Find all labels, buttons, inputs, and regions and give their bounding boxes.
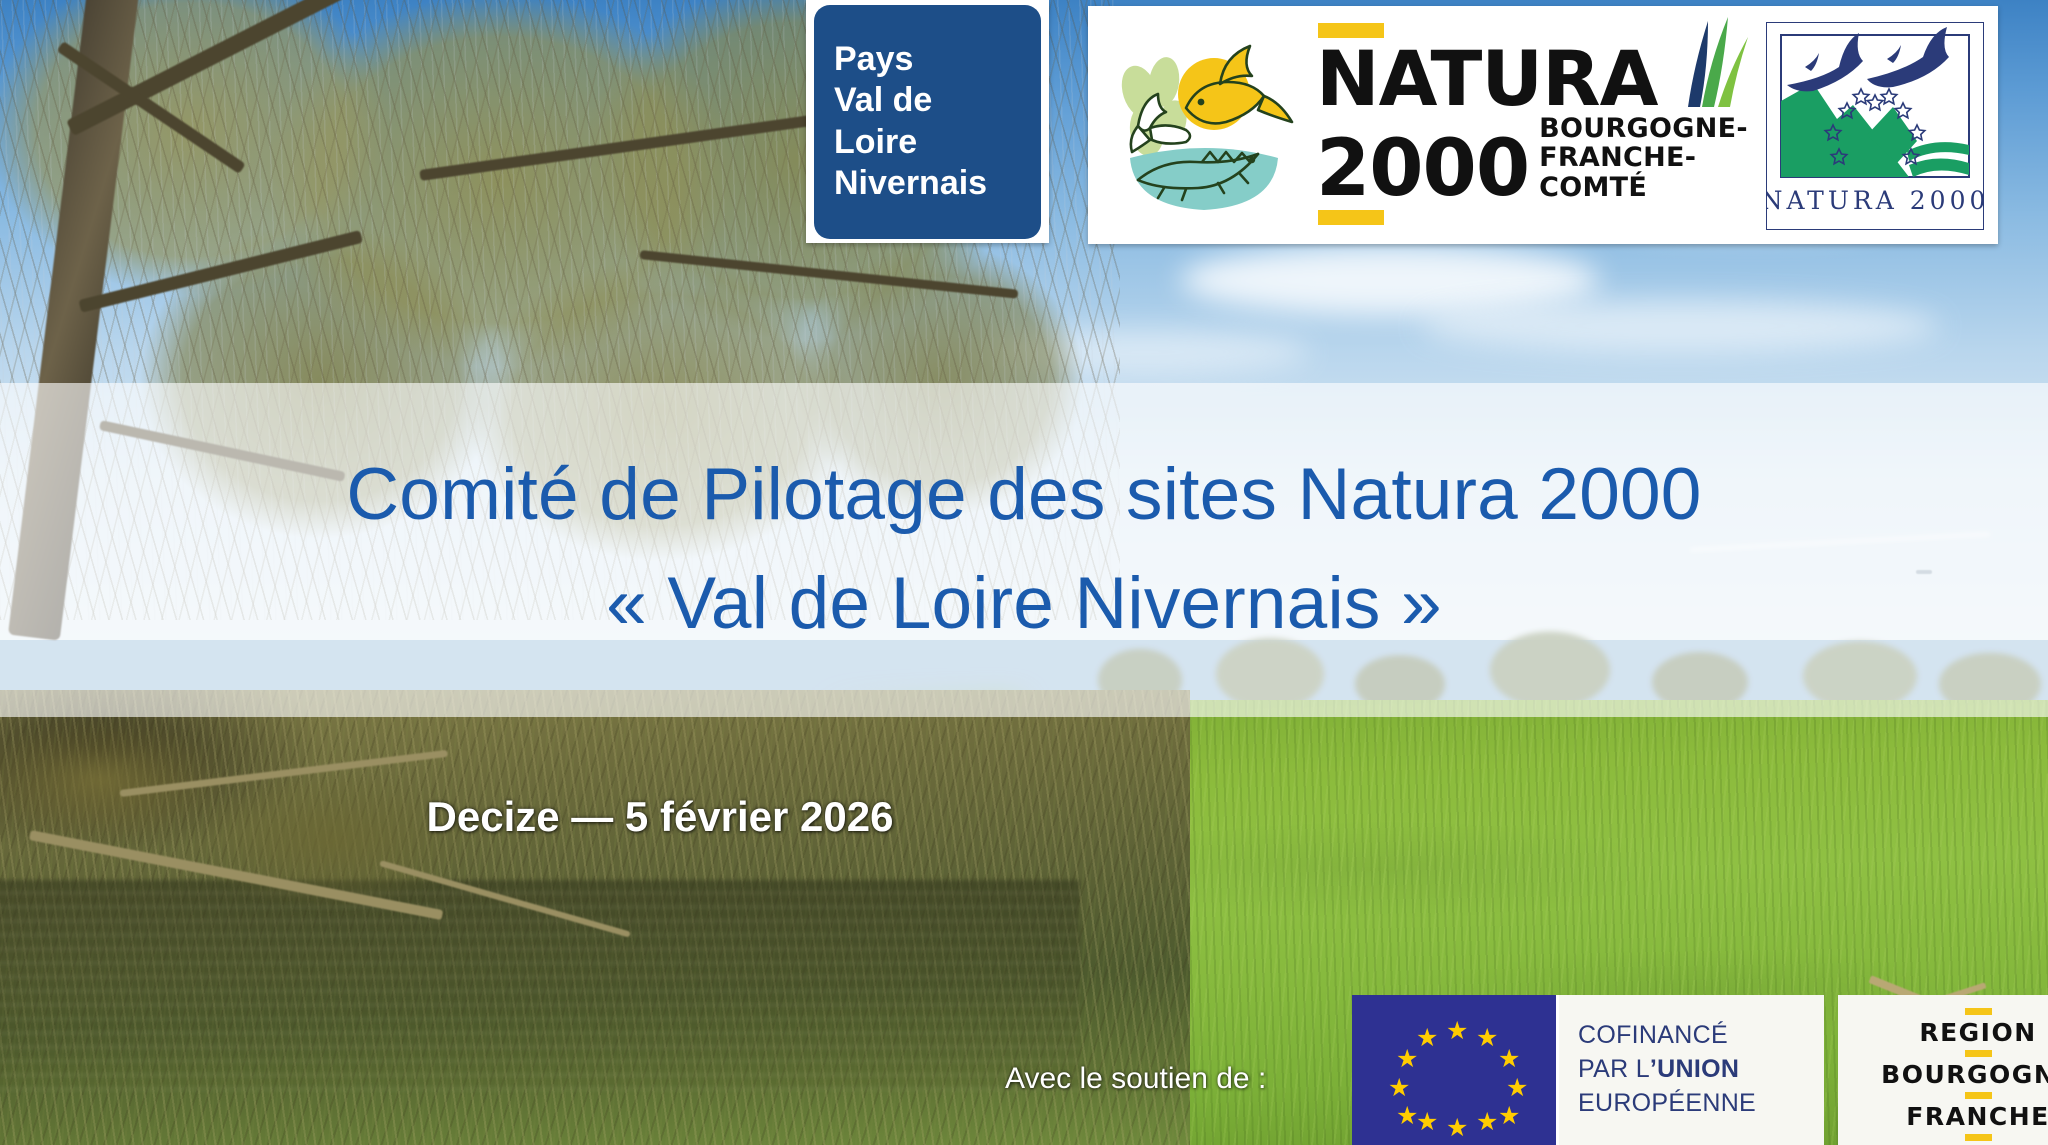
natura2000-bfc-banner: NATURA 2000 BOURGOGNE- FRANCHE- COMTÉ: [1088, 6, 1998, 244]
panel-separator: [1556, 995, 1559, 1145]
region-dash: [1965, 1008, 1992, 1015]
slide-title-line-2: « Val de Loire Nivernais »: [606, 566, 1442, 643]
bank-vegetation: [0, 720, 600, 1020]
natura2000-wordmark: NATURA 2000 BOURGOGNE- FRANCHE- COMTÉ: [1316, 19, 1748, 230]
n2000-row: 2000 BOURGOGNE- FRANCHE- COMTÉ: [1316, 114, 1748, 205]
eu-star: ★: [1396, 1104, 1418, 1129]
slide-title-line-1: Comité de Pilotage des sites Natura 2000: [346, 457, 1701, 534]
eu-star: ★: [1506, 1076, 1528, 1101]
eu-funding-line-2-b: ’UNION: [1650, 1055, 1739, 1083]
region-line-1: REGION: [1919, 1020, 2036, 1045]
eu-star: ★: [1476, 1110, 1498, 1135]
presentation-slide: Comité de Pilotage des sites Natura 2000…: [0, 0, 2048, 1145]
grass-blades-icon: [1678, 13, 1752, 109]
eu-star: ★: [1416, 1026, 1438, 1051]
region-bfc-logo: REGION BOURGOGNE FRANCHE COMTE: [1838, 995, 2048, 1145]
eu-flag: ★ ★ ★ ★ ★ ★ ★ ★ ★ ★ ★ ★: [1352, 995, 1556, 1145]
eu-star: ★: [1498, 1104, 1520, 1129]
region-line-2: BOURGOGNE: [1881, 1062, 2048, 1087]
bfc-line-3: COMTÉ: [1539, 173, 1748, 202]
pays-logo-text: Pays Val de Loire Nivernais: [814, 39, 1041, 205]
natura2000-eu-emblem: NATURA 2000: [1766, 22, 1984, 230]
eu-funding-line-2: PAR L’UNION: [1578, 1053, 1824, 1087]
bfc-line-2: FRANCHE-: [1539, 143, 1748, 172]
region-dash: [1965, 1092, 1992, 1099]
natura-row: NATURA: [1316, 44, 1748, 114]
natura-word: NATURA: [1316, 44, 1657, 114]
eu-funding-line-2-a: PAR L: [1578, 1055, 1650, 1083]
event-date-location: Decize — 5 février 2026: [0, 793, 1320, 841]
natura2000-emblem-caption: NATURA 2000: [1767, 186, 1983, 215]
cloud: [1420, 300, 1940, 352]
pays-logo-line-4: Nivernais: [834, 163, 1041, 204]
natura2000-wildlife-illustration: [1102, 30, 1310, 220]
eu-star: ★: [1446, 1116, 1468, 1141]
title-block: Comité de Pilotage des sites Natura 2000…: [0, 383, 2048, 717]
pays-logo-line-1: Pays: [834, 39, 1041, 80]
eu-cofunding-logo: ★ ★ ★ ★ ★ ★ ★ ★ ★ ★ ★ ★ COFINANCÉ PAR L’…: [1352, 995, 1824, 1145]
pays-logo-line-3: Loire: [834, 122, 1041, 163]
region-line-3: FRANCHE: [1906, 1104, 2048, 1129]
n2000-word: 2000: [1316, 134, 1529, 206]
support-label: Avec le soutien de :: [1005, 1062, 1266, 1096]
eu-star: ★: [1446, 1019, 1468, 1044]
eu-star: ★: [1388, 1076, 1410, 1101]
eu-cofunding-text: COFINANCÉ PAR L’UNION EUROPÉENNE: [1556, 995, 1824, 1145]
wildlife-illustration-icon: [1102, 30, 1310, 220]
eu-star: ★: [1476, 1026, 1498, 1051]
bfc-line-1: BOURGOGNE-: [1539, 114, 1748, 143]
eu-star: ★: [1498, 1047, 1520, 1072]
natura2000-emblem-icon: NATURA 2000: [1767, 23, 1983, 229]
region-bfc-text: REGION BOURGOGNE FRANCHE COMTE: [1848, 1003, 2048, 1145]
pays-logo-line-2: Val de: [834, 80, 1041, 121]
eu-funding-line-3: EUROPÉENNE: [1578, 1087, 1824, 1121]
pays-val-de-loire-nivernais-logo: Pays Val de Loire Nivernais: [806, 0, 1049, 243]
eu-funding-line-1: COFINANCÉ: [1578, 1019, 1824, 1053]
eu-star: ★: [1416, 1110, 1438, 1135]
region-dash: [1965, 1134, 1992, 1141]
region-dash: [1965, 1050, 1992, 1057]
pays-logo-plate: Pays Val de Loire Nivernais: [814, 5, 1041, 239]
bfc-region-text: BOURGOGNE- FRANCHE- COMTÉ: [1539, 114, 1748, 205]
